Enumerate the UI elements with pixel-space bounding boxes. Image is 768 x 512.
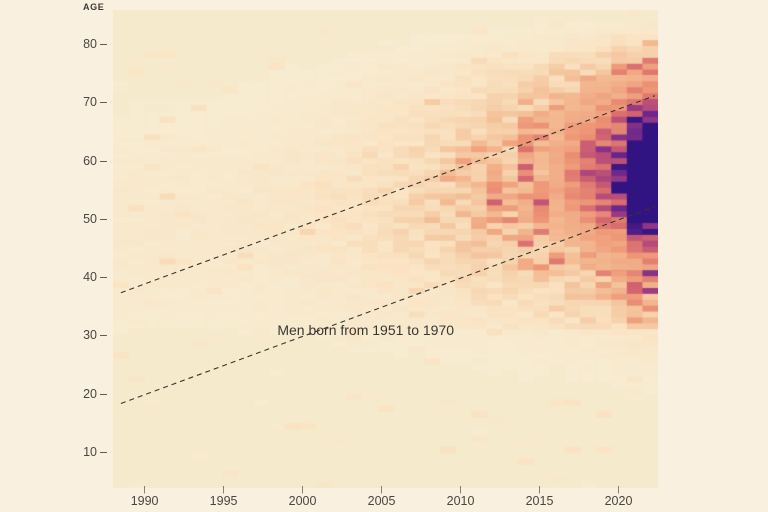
y-tick-label: 40 [65, 270, 97, 284]
y-tick-label: 10 [65, 445, 97, 459]
y-tick-label: 70 [65, 95, 97, 109]
y-tick-label: 60 [65, 154, 97, 168]
y-tick-label: 20 [65, 387, 97, 401]
cohort-line-1970 [121, 206, 655, 403]
x-tick-mark: | [455, 485, 467, 494]
y-tick-mark: – [100, 445, 107, 459]
y-tick-mark: – [100, 328, 107, 342]
x-tick-mark: | [534, 485, 546, 494]
x-tick-label: 2000 [273, 494, 333, 508]
x-tick-mark: | [613, 485, 625, 494]
x-tick-label: 2015 [510, 494, 570, 508]
y-tick-label: 50 [65, 212, 97, 226]
y-tick-mark: – [100, 154, 107, 168]
heatmap-plot-area [113, 10, 658, 488]
x-tick-mark: | [376, 485, 388, 494]
x-tick-mark: | [218, 485, 230, 494]
x-tick-mark: | [297, 485, 309, 494]
y-tick-mark: – [100, 387, 107, 401]
cohort-lines-overlay [113, 10, 658, 488]
x-tick-label: 2010 [431, 494, 491, 508]
x-tick-mark: | [139, 485, 151, 494]
cohort-line-1951 [121, 96, 655, 293]
chart-canvas: AGE Men born from 1951 to 1970 10–20–30–… [0, 0, 768, 512]
y-tick-label: 30 [65, 328, 97, 342]
y-tick-label: 80 [65, 37, 97, 51]
x-tick-label: 2005 [352, 494, 412, 508]
y-axis-title: AGE [83, 2, 104, 12]
y-tick-mark: – [100, 95, 107, 109]
y-tick-mark: – [100, 37, 107, 51]
x-tick-label: 1995 [194, 494, 254, 508]
chart-annotation: Men born from 1951 to 1970 [277, 322, 454, 338]
x-tick-label: 1990 [115, 494, 175, 508]
x-tick-label: 2020 [589, 494, 649, 508]
y-tick-mark: – [100, 270, 107, 284]
y-tick-mark: – [100, 212, 107, 226]
